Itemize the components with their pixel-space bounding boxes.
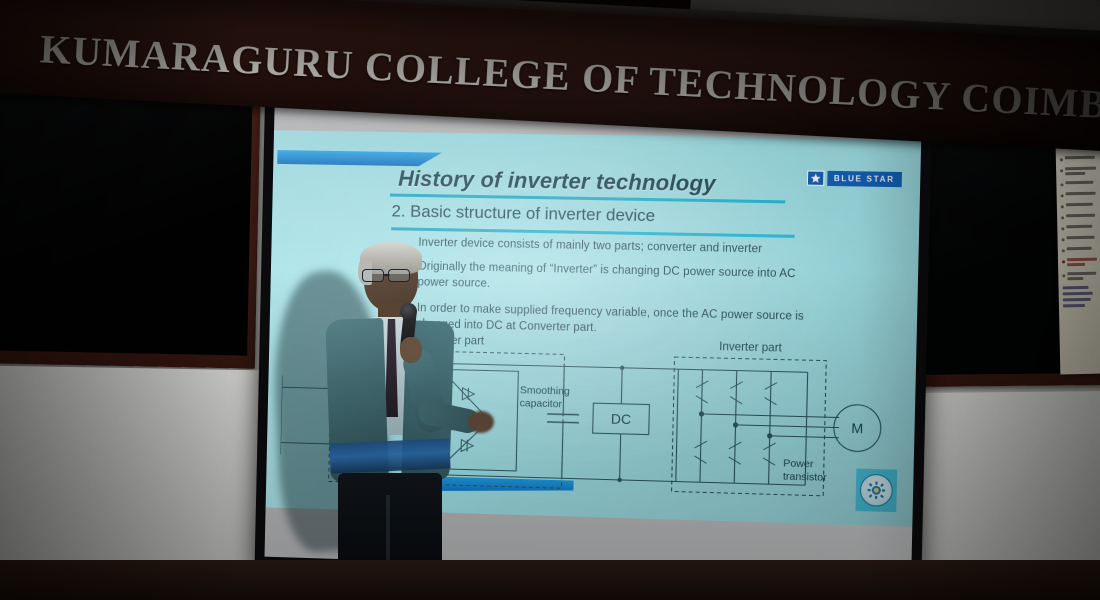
poster-text-line — [1066, 214, 1095, 218]
poster-bullet — [1062, 272, 1100, 281]
poster-text-line — [1063, 286, 1089, 290]
svg-text:capacitor: capacitor — [520, 398, 563, 410]
bullet-dot-icon — [1062, 274, 1065, 277]
poster-text-line — [1067, 247, 1092, 251]
presenter-hand-holding-mic — [400, 337, 422, 363]
svg-text:M: M — [851, 420, 863, 437]
poster-bullet — [1062, 247, 1100, 253]
presenter-jacket-band — [329, 438, 450, 473]
glasses-icon — [362, 269, 422, 282]
glasses-lens-left — [362, 269, 384, 282]
poster-text-line — [1066, 192, 1096, 196]
bullet-dot-icon — [1060, 158, 1063, 161]
poster-text-line — [1067, 236, 1095, 240]
poster-bullet — [1061, 214, 1099, 220]
svg-text:Power: Power — [783, 458, 814, 470]
poster-text-line — [1067, 258, 1097, 262]
slide-section-heading: 2. Basic structure of inverter device — [391, 201, 655, 226]
poster-text-line — [1065, 156, 1095, 160]
wall-poster — [1056, 146, 1100, 375]
poster-text-line — [1063, 304, 1085, 307]
bullet-dot-icon — [1060, 169, 1063, 172]
glasses-lens-right — [388, 269, 410, 282]
svg-text:Smoothing: Smoothing — [520, 385, 570, 397]
slide-title: History of inverter technology — [398, 166, 716, 197]
slide-accent-top — [277, 150, 442, 167]
wall-board-left — [0, 75, 253, 355]
svg-text:transistor: transistor — [783, 471, 828, 483]
poster-text-line — [1067, 272, 1096, 276]
poster-text-line — [1065, 167, 1096, 171]
bullet-dot-icon — [1062, 249, 1065, 252]
presenter — [318, 245, 488, 600]
poster-footer — [1063, 286, 1100, 308]
floor — [0, 560, 1100, 600]
bullet-dot-icon — [1061, 216, 1064, 219]
poster-text-line — [1063, 292, 1093, 296]
poster-text-line — [1066, 203, 1093, 207]
poster-text-line — [1065, 181, 1093, 185]
bullet-dot-icon — [1061, 227, 1064, 230]
blue-star-wordmark: BLUE STAR — [828, 171, 902, 187]
poster-bullet — [1061, 192, 1099, 198]
poster-bullet — [1061, 203, 1099, 209]
svg-text:Inverter part: Inverter part — [719, 341, 783, 355]
blue-star-logo: BLUE STAR — [807, 170, 902, 187]
poster-bullet — [1060, 167, 1098, 176]
poster-bullet — [1061, 225, 1099, 231]
presenter-hand-right — [468, 411, 494, 433]
bullet-dot-icon — [1062, 260, 1065, 263]
poster-bullet — [1060, 156, 1098, 162]
bullet-dot-icon — [1061, 194, 1064, 197]
bullet-dot-icon — [1062, 238, 1065, 241]
poster-text-line — [1063, 298, 1091, 302]
wall-panel-left — [0, 366, 260, 571]
bullet-dot-icon — [1060, 183, 1063, 186]
svg-text:DC: DC — [611, 410, 632, 427]
poster-text-line — [1065, 172, 1085, 175]
poster-text-line — [1067, 277, 1083, 280]
wall-panel-right — [917, 391, 1100, 573]
poster-bullet — [1062, 258, 1100, 267]
poster-bullet — [1060, 181, 1098, 187]
poster-bullet — [1062, 236, 1100, 242]
lecture-hall-scene: History of inverter technology 2. Basic … — [0, 0, 1100, 600]
microphone-head — [400, 303, 417, 320]
poster-text-line — [1066, 225, 1092, 229]
star-icon — [807, 170, 825, 185]
poster-text-line — [1067, 263, 1085, 266]
bullet-dot-icon — [1061, 205, 1064, 208]
